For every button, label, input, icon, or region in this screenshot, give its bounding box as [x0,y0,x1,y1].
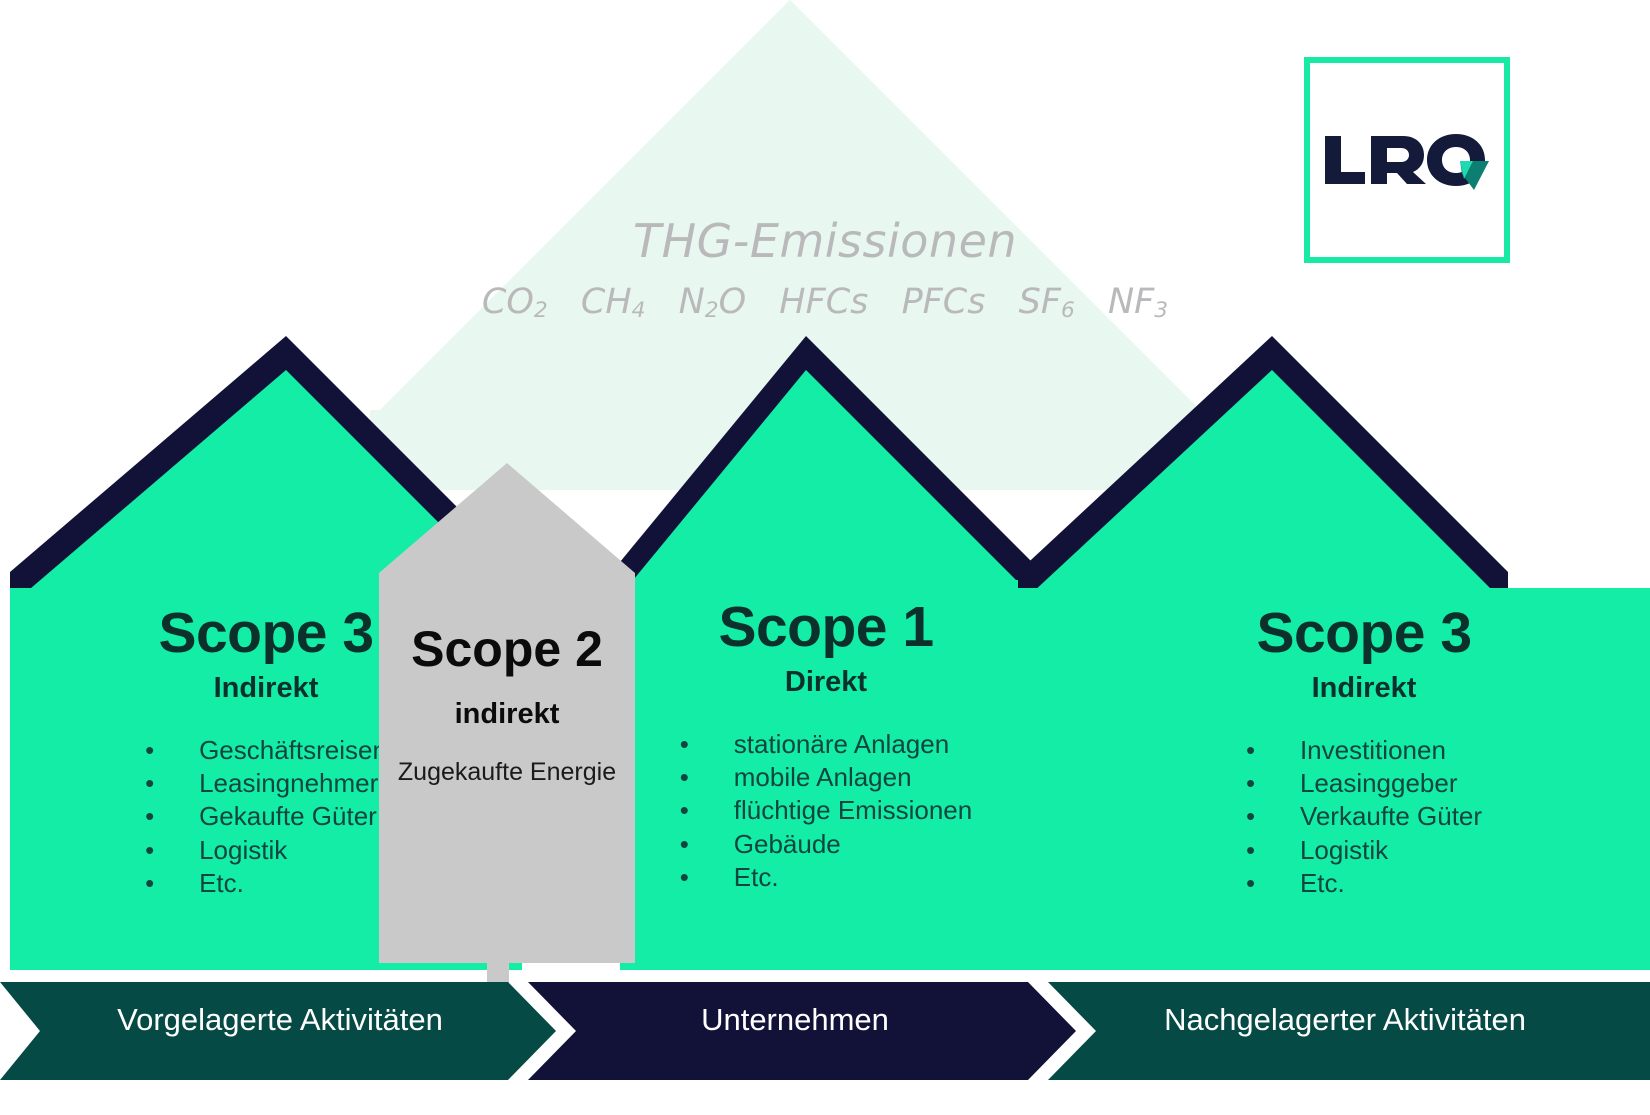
house-shape [620,336,1032,970]
formula-n2o: N2O [679,282,747,322]
infographic-canvas: THG-Emissionen CO2 CH4 N2O HFCs PFCs SF6… [0,0,1650,1115]
lrqa-logo-box [1304,57,1510,263]
house-shape [1018,336,1650,970]
scope2-block[interactable]: Scope 2 indirekt Zugekaufte Energie [379,463,635,1003]
formula-co2: CO2 [482,282,548,322]
formula-hfcs: HFCs [779,282,868,322]
house-scope1-company[interactable]: Scope 1 Direkt •stationäre Anlagen •mobi… [620,336,1032,970]
banner-upstream-shape [0,982,556,1080]
lrqa-logo [1310,63,1504,257]
scope2-shape [379,463,635,998]
ghg-formula-list: CO2 CH4 N2O HFCs PFCs SF6 NF3 [0,282,1650,323]
formula-sf6: SF6 [1019,282,1075,322]
formula-nf3: NF3 [1108,282,1168,322]
lrqa-logo-icon [1321,130,1493,190]
bottom-banner-row [0,970,1650,1080]
banner-company-shape [528,982,1076,1080]
banner-downstream-shape [1048,982,1650,1080]
formula-pfcs: PFCs [902,282,986,322]
formula-ch4: CH4 [581,282,646,322]
house-scope3-downstream[interactable]: Scope 3 Indirekt •Investitionen •Leasing… [1018,336,1650,970]
